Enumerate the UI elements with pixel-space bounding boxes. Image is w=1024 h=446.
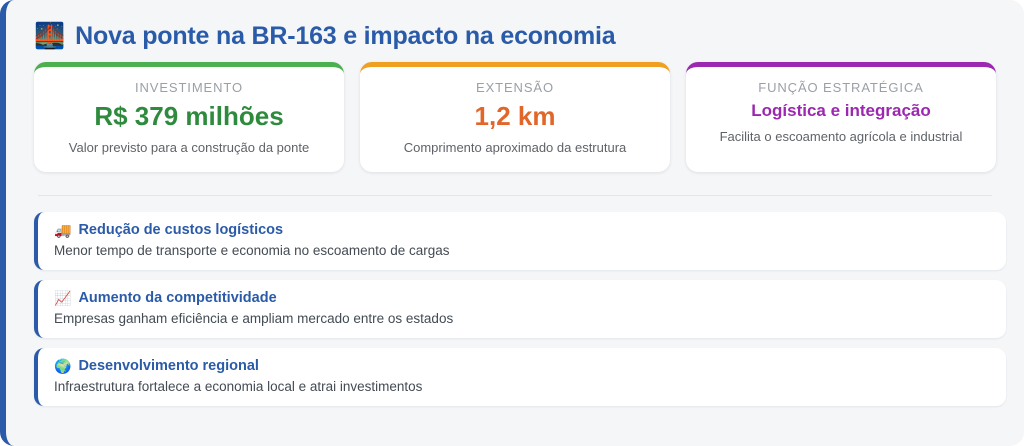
benefit-item-competitividade: 📈 Aumento da competitividade Empresas ga…	[34, 280, 1006, 338]
benefit-title: Desenvolvimento regional	[78, 357, 259, 376]
stat-card-extensao: EXTENSÃO 1,2 km Comprimento aproximado d…	[360, 62, 670, 172]
stat-label: INVESTIMENTO	[46, 80, 332, 95]
benefit-description: Infraestrutura fortalece a economia loca…	[54, 378, 990, 396]
stat-value: 1,2 km	[372, 102, 658, 131]
truck-icon: 🚚	[54, 223, 71, 237]
globe-icon: 🌍	[54, 359, 71, 373]
bridge-icon: 🌉	[34, 24, 65, 49]
benefit-title-row: 🚚 Redução de custos logísticos	[54, 221, 990, 240]
benefits-list: 🚚 Redução de custos logísticos Menor tem…	[30, 212, 1000, 406]
stat-description: Comprimento aproximado da estrutura	[372, 140, 658, 156]
stat-description: Facilita o escoamento agrícola e industr…	[698, 129, 984, 145]
benefit-item-reducao-custos: 🚚 Redução de custos logísticos Menor tem…	[34, 212, 1006, 270]
stat-label: EXTENSÃO	[372, 80, 658, 95]
stat-label: FUNÇÃO ESTRATÉGICA	[698, 80, 984, 95]
stat-card-funcao-estrategica: FUNÇÃO ESTRATÉGICA Logística e integraçã…	[686, 62, 996, 172]
stat-value: R$ 379 milhões	[46, 102, 332, 131]
benefit-title-row: 📈 Aumento da competitividade	[54, 289, 990, 308]
stat-cards-row: INVESTIMENTO R$ 379 milhões Valor previs…	[30, 62, 1000, 172]
benefit-title: Aumento da competitividade	[78, 289, 276, 308]
infographic-panel: 🌉 Nova ponte na BR-163 e impacto na econ…	[0, 0, 1024, 446]
section-divider	[38, 195, 992, 196]
page-title: Nova ponte na BR-163 e impacto na econom…	[75, 22, 615, 51]
benefit-title-row: 🌍 Desenvolvimento regional	[54, 357, 990, 376]
stat-card-investimento: INVESTIMENTO R$ 379 milhões Valor previs…	[34, 62, 344, 172]
benefit-item-desenvolvimento-regional: 🌍 Desenvolvimento regional Infraestrutur…	[34, 348, 1006, 406]
stat-description: Valor previsto para a construção da pont…	[46, 140, 332, 156]
benefit-description: Empresas ganham eficiência e ampliam mer…	[54, 310, 990, 328]
benefit-description: Menor tempo de transporte e economia no …	[54, 242, 990, 260]
chart-increasing-icon: 📈	[54, 291, 71, 305]
page-header: 🌉 Nova ponte na BR-163 e impacto na econ…	[30, 14, 1000, 58]
benefit-title: Redução de custos logísticos	[78, 221, 283, 240]
stat-value: Logística e integração	[698, 102, 984, 121]
